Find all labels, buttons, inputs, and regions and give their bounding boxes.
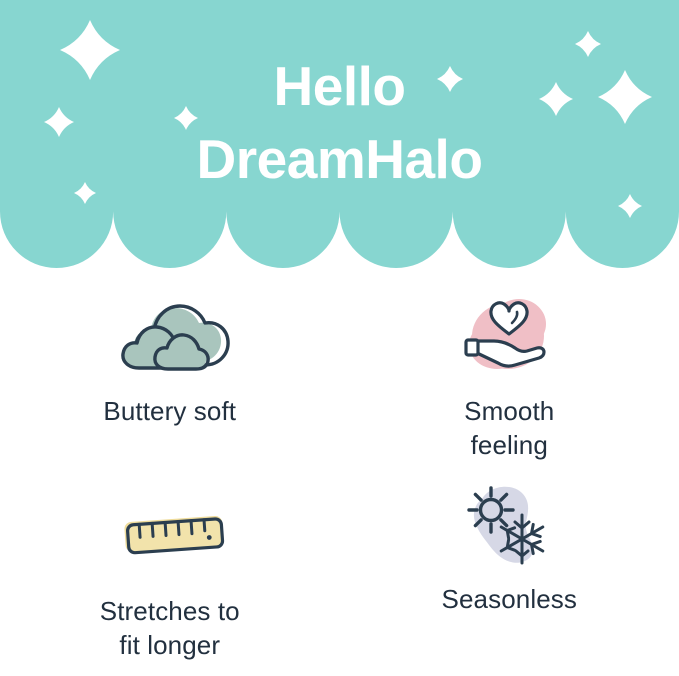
feature-item-buttery-soft: Buttery soft <box>0 268 340 472</box>
feature-grid: Buttery soft Smooth feeling <box>0 268 679 676</box>
feature-label: Seasonless <box>442 582 577 616</box>
feature-label: Smooth feeling <box>464 394 554 462</box>
feature-label: Buttery soft <box>103 394 236 428</box>
sun-snowflake-icon <box>446 478 570 568</box>
cloud-icon <box>111 290 235 380</box>
ruler-icon <box>111 490 235 580</box>
hand-heart-icon <box>446 290 570 380</box>
page-title: Hello DreamHalo <box>0 50 679 196</box>
feature-item-smooth-feeling: Smooth feeling <box>340 268 679 472</box>
feature-item-seasonless: Seasonless <box>340 472 679 676</box>
feature-label: Stretches to fit longer <box>100 594 240 662</box>
hero-banner: Hello DreamHalo <box>0 0 679 268</box>
feature-item-stretches: Stretches to fit longer <box>0 472 340 676</box>
